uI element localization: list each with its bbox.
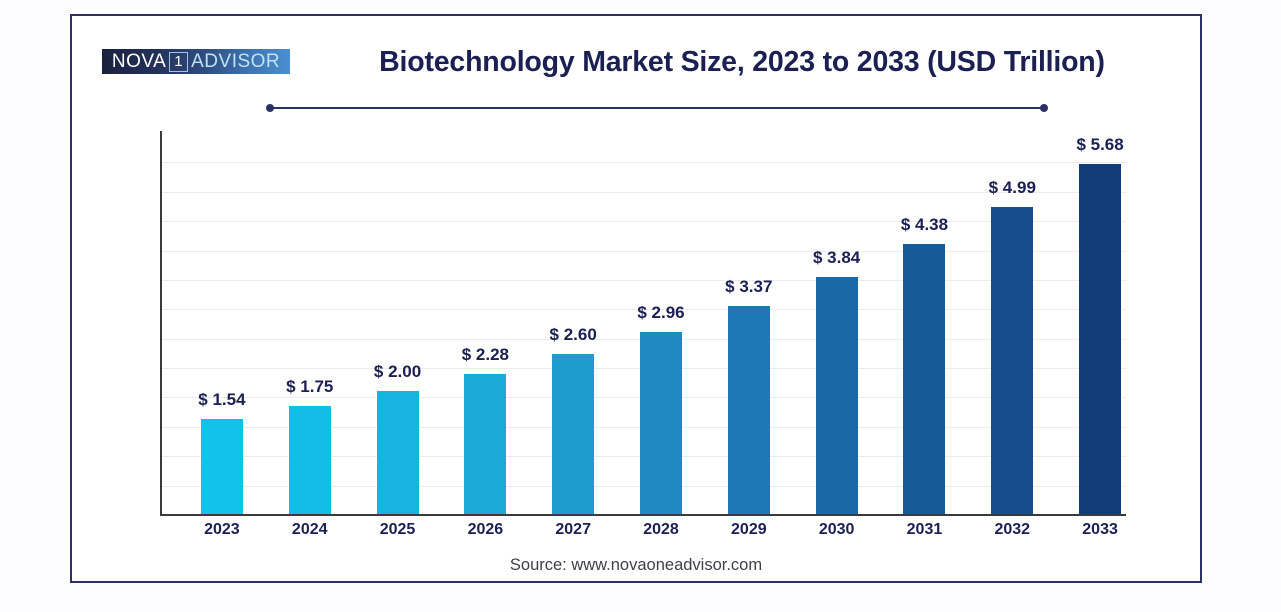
bar-value-label: $ 3.84 [813,248,860,268]
x-axis-label: 2033 [1082,521,1118,539]
x-axis-label: 2031 [907,521,943,539]
source-text: Source: www.novaoneadvisor.com [72,556,1200,575]
bar[interactable]: $ 1.54 [201,419,243,514]
x-axis-label: 2023 [204,521,240,539]
logo-text-advisor: ADVISOR [191,52,280,71]
bar-value-label: $ 1.54 [198,390,245,410]
bar[interactable]: $ 1.75 [289,406,331,514]
x-axis-label: 2024 [292,521,328,539]
bar[interactable]: $ 3.84 [816,277,858,514]
title-divider [266,103,1048,113]
logo-text-nova: NOVA [112,52,166,71]
bar-value-label: $ 1.75 [286,377,333,397]
plot-area: $ 1.54$ 1.75$ 2.00$ 2.28$ 2.60$ 2.96$ 3.… [160,133,1126,515]
x-axis-label: 2028 [643,521,679,539]
logo-text-one: 1 [169,52,188,72]
bar[interactable]: $ 2.00 [377,391,419,514]
bar-value-label: $ 2.60 [550,325,597,345]
bar-value-label: $ 2.00 [374,362,421,382]
bar-value-label: $ 4.38 [901,215,948,235]
x-axis-label: 2030 [819,521,855,539]
bar[interactable]: $ 4.38 [903,244,945,514]
bar-value-label: $ 2.96 [637,303,684,323]
bar-value-label: $ 5.68 [1076,135,1123,155]
infographic-canvas: NOVA 1 ADVISOR Biotechnology Market Size… [0,0,1281,612]
divider-dot-right-icon [1040,104,1048,112]
bar-value-label: $ 2.28 [462,345,509,365]
bar-series: $ 1.54$ 1.75$ 2.00$ 2.28$ 2.60$ 2.96$ 3.… [160,133,1126,515]
bar-value-label: $ 4.99 [989,178,1036,198]
bar-value-label: $ 3.37 [725,277,772,297]
x-axis-label: 2025 [380,521,416,539]
chart-frame: NOVA 1 ADVISOR Biotechnology Market Size… [70,14,1202,583]
x-axis-label: 2032 [994,521,1030,539]
chart-title: Biotechnology Market Size, 2023 to 2033 … [312,46,1172,79]
bar[interactable]: $ 5.68 [1079,164,1121,514]
bar[interactable]: $ 2.96 [640,332,682,514]
nova-one-advisor-logo[interactable]: NOVA 1 ADVISOR [102,49,290,74]
bar[interactable]: $ 4.99 [991,207,1033,514]
x-axis-label: 2026 [468,521,504,539]
bar[interactable]: $ 2.28 [464,374,506,514]
x-axis-label: 2027 [555,521,591,539]
bar[interactable]: $ 2.60 [552,354,594,514]
bar[interactable]: $ 3.37 [728,306,770,514]
divider-line [270,107,1044,109]
x-axis-label: 2029 [731,521,767,539]
x-axis-labels: 2023202420252026202720282029203020312032… [160,521,1126,547]
